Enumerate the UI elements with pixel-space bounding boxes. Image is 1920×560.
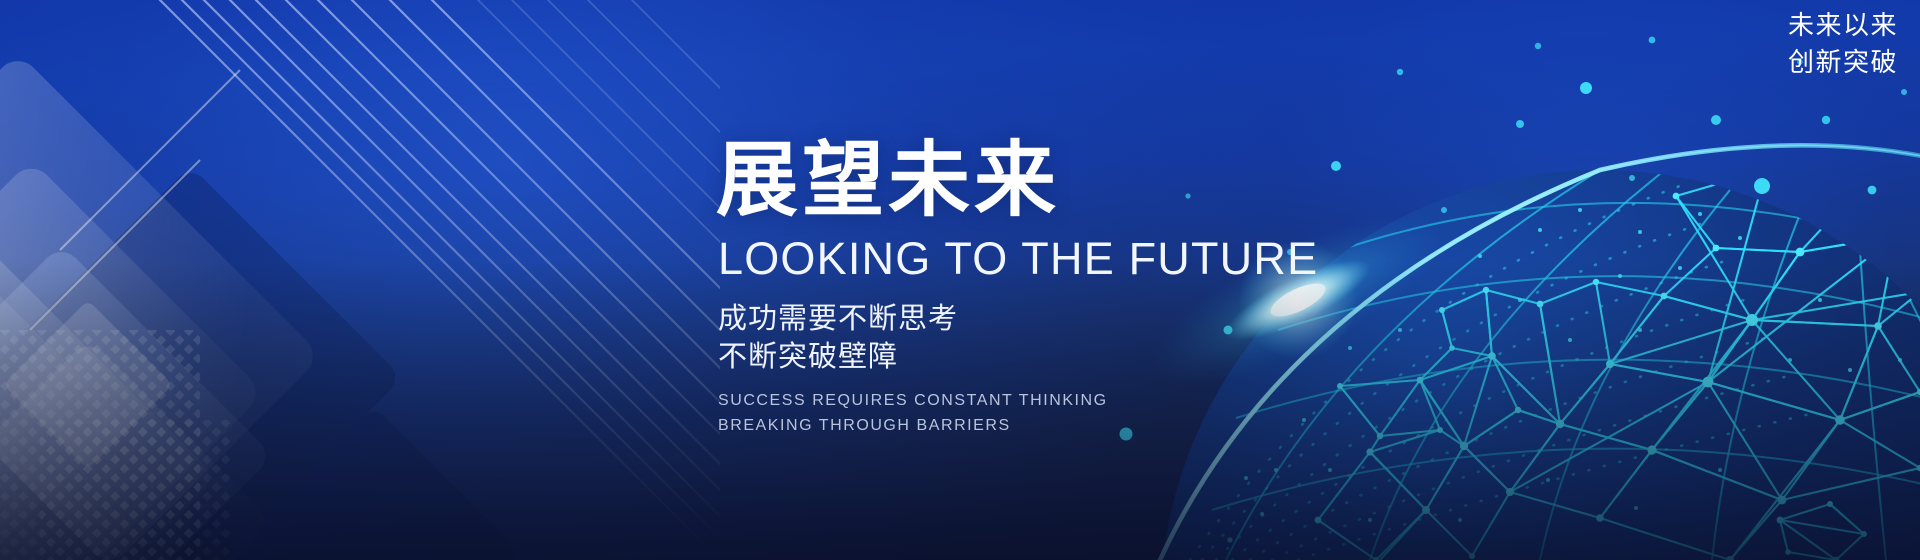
corner-slogan: 未来以来 创新突破: [1788, 8, 1898, 83]
subtitle-chinese: 成功需要不断思考 不断突破壁障: [718, 299, 1416, 376]
page-title-english: LOOKING TO THE FUTURE: [718, 236, 1416, 281]
page-title: 展望未来: [716, 140, 1416, 222]
headline-copy-block: 展望未来 LOOKING TO THE FUTURE 成功需要不断思考 不断突破…: [716, 140, 1416, 439]
diagonal-geometric-shapes: [0, 0, 720, 560]
subtitle-chinese-line-2: 不断突破壁障: [718, 337, 1416, 375]
corner-slogan-line-2: 创新突破: [1788, 45, 1898, 82]
subtitle-english: SUCCESS REQUIRES CONSTANT THINKING BREAK…: [718, 388, 1416, 440]
subtitle-english-line-2: BREAKING THROUGH BARRIERS: [718, 413, 1416, 439]
corner-slogan-line-1: 未来以来: [1788, 8, 1898, 45]
subtitle-english-line-1: SUCCESS REQUIRES CONSTANT THINKING: [718, 388, 1416, 414]
subtitle-chinese-line-1: 成功需要不断思考: [718, 299, 1416, 337]
promotional-banner: 展望未来 LOOKING TO THE FUTURE 成功需要不断思考 不断突破…: [0, 0, 1920, 560]
